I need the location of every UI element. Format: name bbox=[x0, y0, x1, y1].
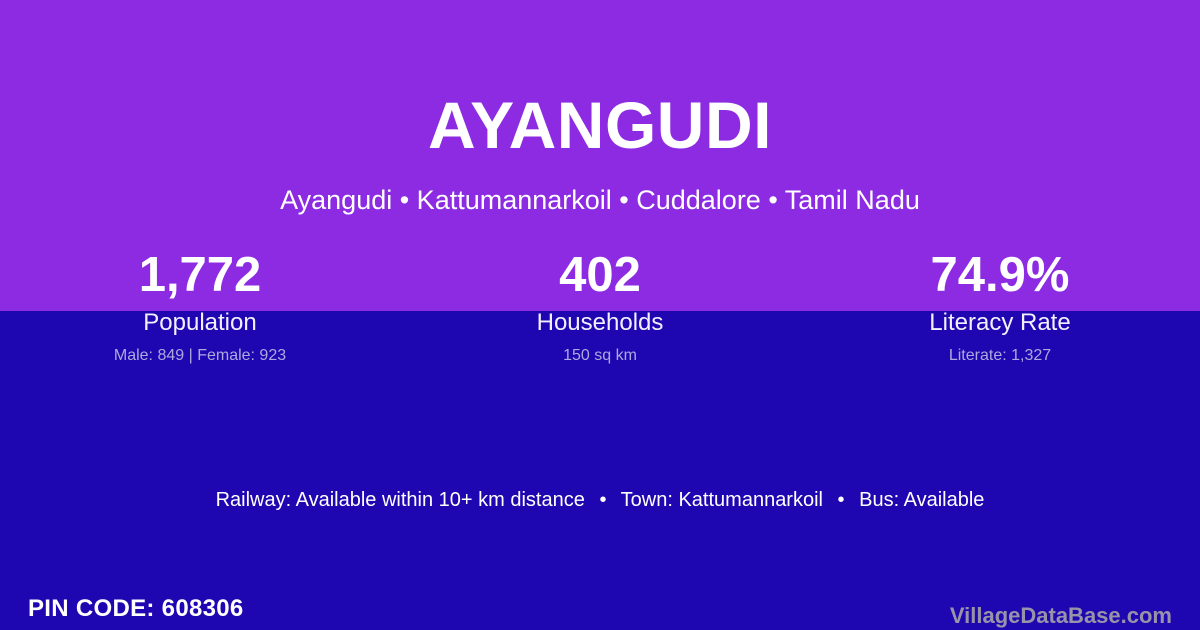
stat-value-population: 1,772 bbox=[0, 245, 400, 305]
stat-label-households: Households bbox=[400, 308, 800, 338]
stat-value-households: 402 bbox=[400, 245, 800, 305]
amenity-railway: Railway: Available within 10+ km distanc… bbox=[216, 489, 585, 511]
stat-sub-population: Male: 849 | Female: 923 bbox=[0, 345, 400, 367]
stats-row: 1,772 Population Male: 849 | Female: 923… bbox=[0, 245, 1200, 385]
stat-block-population: 1,772 Population Male: 849 | Female: 923 bbox=[0, 245, 400, 367]
footer: PIN CODE: 608306 VillageDataBase.com bbox=[0, 546, 1200, 630]
stat-sub-households: 150 sq km bbox=[400, 345, 800, 367]
bullet-separator-icon: • bbox=[590, 489, 615, 511]
stat-block-households: 402 Households 150 sq km bbox=[400, 245, 800, 367]
amenities-row: Railway: Available within 10+ km distanc… bbox=[0, 486, 1200, 514]
stat-label-literacy: Literacy Rate bbox=[800, 308, 1200, 338]
pin-code-label: PIN CODE: 608306 bbox=[28, 594, 244, 624]
brand-watermark: VillageDataBase.com bbox=[950, 602, 1172, 630]
page-title: AYANGUDI bbox=[0, 87, 1200, 163]
breadcrumb: Ayangudi • Kattumannarkoil • Cuddalore •… bbox=[0, 183, 1200, 217]
stat-sub-literacy: Literate: 1,327 bbox=[800, 345, 1200, 367]
stat-block-literacy: 74.9% Literacy Rate Literate: 1,327 bbox=[800, 245, 1200, 367]
village-info-card: AYANGUDI Ayangudi • Kattumannarkoil • Cu… bbox=[0, 0, 1200, 630]
amenity-bus: Bus: Available bbox=[859, 489, 984, 511]
amenity-town: Town: Kattumannarkoil bbox=[621, 489, 823, 511]
bullet-separator-icon: • bbox=[829, 489, 854, 511]
stat-label-population: Population bbox=[0, 308, 400, 338]
stat-value-literacy: 74.9% bbox=[800, 245, 1200, 305]
